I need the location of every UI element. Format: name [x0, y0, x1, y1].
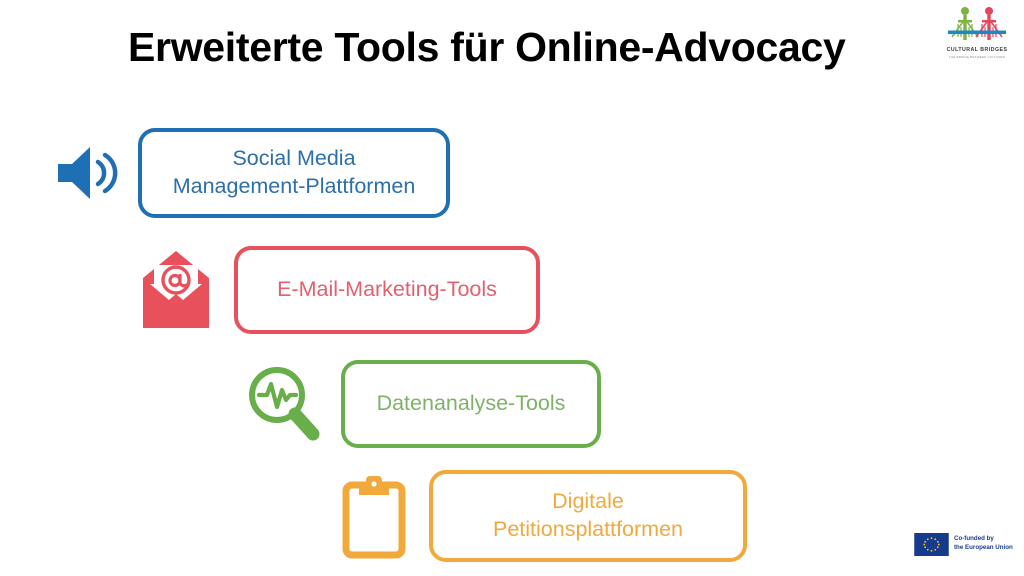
clipboard-icon: [338, 473, 410, 559]
tool-label-email-marketing: E-Mail-Marketing-Tools: [277, 276, 497, 304]
list-item-social-media[interactable]: Social Media Management-Plattformen: [52, 128, 450, 218]
brand-logo: CULTURAL BRIDGES THE BRIDGE BETWEEN CULT…: [936, 6, 1018, 68]
bridge-icon: [945, 6, 1009, 46]
eu-badge-line1: Co-funded by: [954, 535, 1013, 544]
speaker-icon: [52, 142, 126, 204]
tool-box-digital-petitions[interactable]: Digitale Petitionsplattformen: [429, 470, 747, 562]
list-item-data-analysis[interactable]: Datenanalyse-Tools: [243, 360, 601, 448]
list-item-digital-petitions[interactable]: Digitale Petitionsplattformen: [338, 470, 747, 562]
brand-name: CULTURAL BRIDGES: [936, 47, 1018, 53]
eu-badge-text: Co-funded by the European Union: [954, 535, 1013, 553]
brand-tagline: THE BRIDGE BETWEEN CULTURES: [936, 55, 1018, 59]
eu-funding-badge: Co-funded by the European Union: [914, 531, 1018, 557]
tool-label-data-analysis: Datenanalyse-Tools: [377, 390, 566, 418]
tool-box-email-marketing[interactable]: E-Mail-Marketing-Tools: [234, 246, 540, 334]
slide-canvas: Erweiterte Tools für Online-Advocacy: [0, 0, 1024, 576]
tool-label-digital-petitions: Digitale Petitionsplattformen: [493, 488, 683, 544]
tool-label-social-media: Social Media Management-Plattformen: [173, 145, 416, 201]
magnifier-pulse-icon: [243, 362, 323, 446]
page-title: Erweiterte Tools für Online-Advocacy: [128, 24, 908, 71]
tool-box-data-analysis[interactable]: Datenanalyse-Tools: [341, 360, 601, 448]
eu-badge-line2: the European Union: [954, 544, 1013, 553]
list-item-email-marketing[interactable]: E-Mail-Marketing-Tools: [137, 246, 540, 334]
tool-box-social-media[interactable]: Social Media Management-Plattformen: [138, 128, 450, 218]
eu-flag-icon: [914, 533, 949, 556]
envelope-at-icon: [137, 248, 215, 332]
